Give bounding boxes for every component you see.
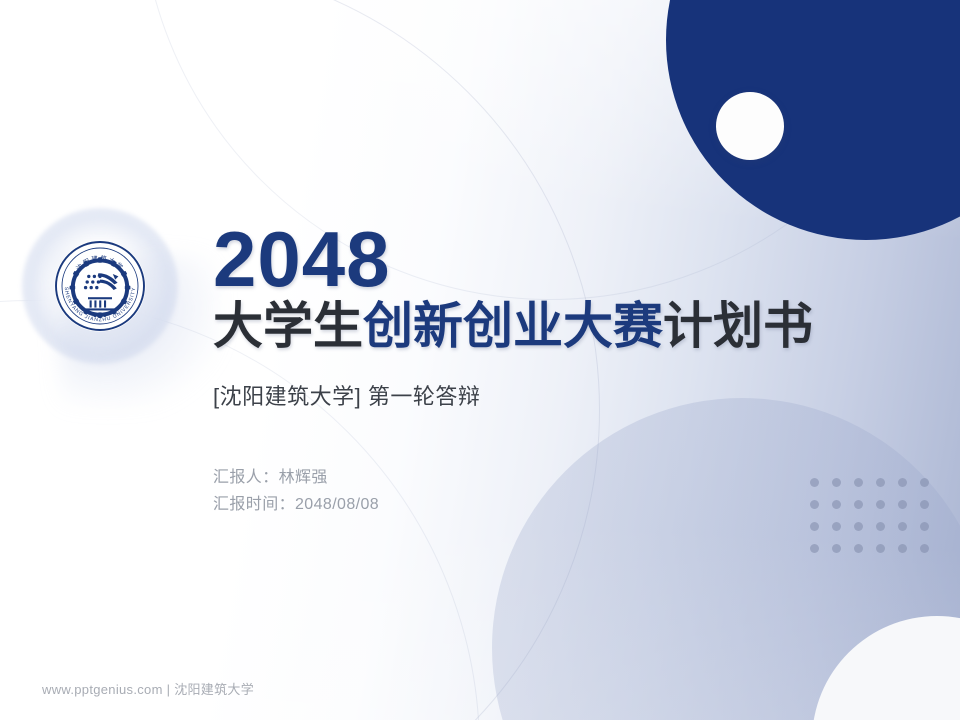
- decorative-dot: [920, 544, 929, 553]
- page-title-segment-0: 大学生: [213, 298, 363, 354]
- presentation-meta: 汇报人：林辉强 汇报时间：2048/08/08: [213, 464, 913, 518]
- decorative-dot: [920, 478, 929, 487]
- decorative-dot: [876, 544, 885, 553]
- year-heading: 2048: [213, 222, 913, 296]
- page-title: 大学生创新创业大赛计划书: [213, 300, 913, 353]
- decorative-dot: [920, 500, 929, 509]
- decorative-dot: [832, 544, 841, 553]
- page-title-segment-1: 创新创业大赛: [363, 298, 663, 354]
- presenter-line: 汇报人：林辉强: [213, 464, 913, 491]
- footer-credit: www.pptgenius.com | 沈阳建筑大学: [42, 679, 254, 698]
- decorative-dot: [876, 522, 885, 531]
- decorative-dot: [810, 544, 819, 553]
- decorative-dot: [810, 522, 819, 531]
- decorative-dot: [832, 522, 841, 531]
- title-text-block: 2048 大学生创新创业大赛计划书 [沈阳建筑大学] 第一轮答辩 汇报人：林辉强…: [213, 222, 913, 518]
- subtitle: [沈阳建筑大学] 第一轮答辩: [213, 379, 913, 411]
- decorative-dot: [898, 522, 907, 531]
- decorative-dot: [854, 544, 863, 553]
- decorative-white-circle-top-right: [716, 92, 784, 160]
- page-title-segment-2: 计划书: [663, 298, 813, 354]
- decorative-dot: [920, 522, 929, 531]
- presentation-slide: 1948 SHENYANG JIANZHU UNIVERSITY 沈阳建筑大学 …: [0, 0, 960, 720]
- decorative-dot: [854, 522, 863, 531]
- university-seal-icon: 1948 SHENYANG JIANZHU UNIVERSITY 沈阳建筑大学: [52, 238, 148, 334]
- date-line: 汇报时间：2048/08/08: [213, 491, 913, 518]
- decorative-dot: [898, 544, 907, 553]
